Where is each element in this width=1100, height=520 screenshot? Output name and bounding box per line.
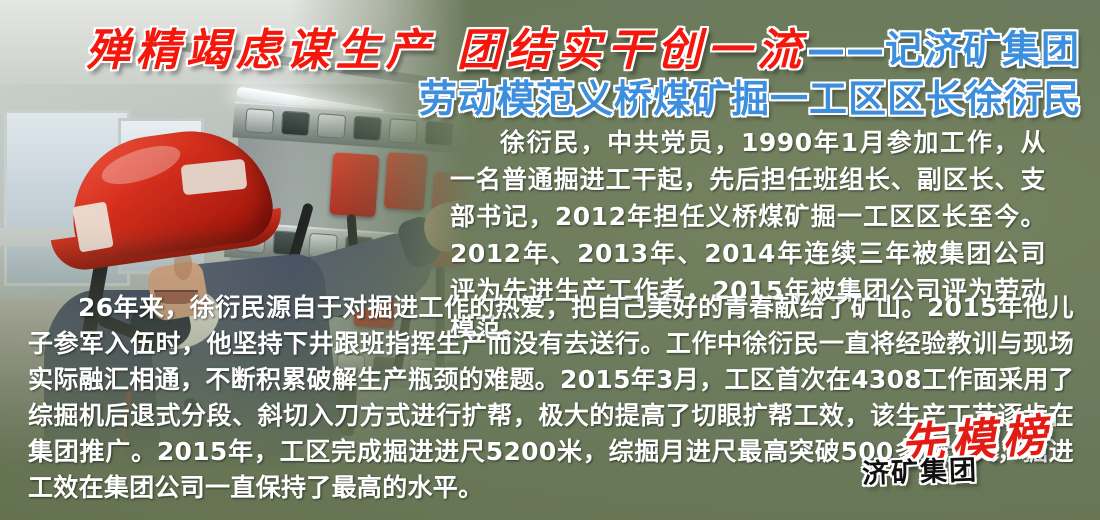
- news-banner: 殚精竭虑谋生产 团结实干创一流——记济矿集团 劳动模范义桥煤矿掘一工区区长徐衍民…: [0, 0, 1100, 520]
- headline-line-2: 劳动模范义桥煤矿掘一工区区长徐衍民: [0, 68, 1082, 123]
- headline-subtitle-text: 劳动模范义桥煤矿掘一工区区长徐衍民: [419, 77, 1082, 121]
- headline-blue-suffix: ——记济矿集团: [807, 28, 1080, 72]
- stamp-sub-text: 济矿集团: [861, 448, 978, 491]
- jikuang-group-stamp: 先模榜 济矿集团: [862, 404, 1082, 500]
